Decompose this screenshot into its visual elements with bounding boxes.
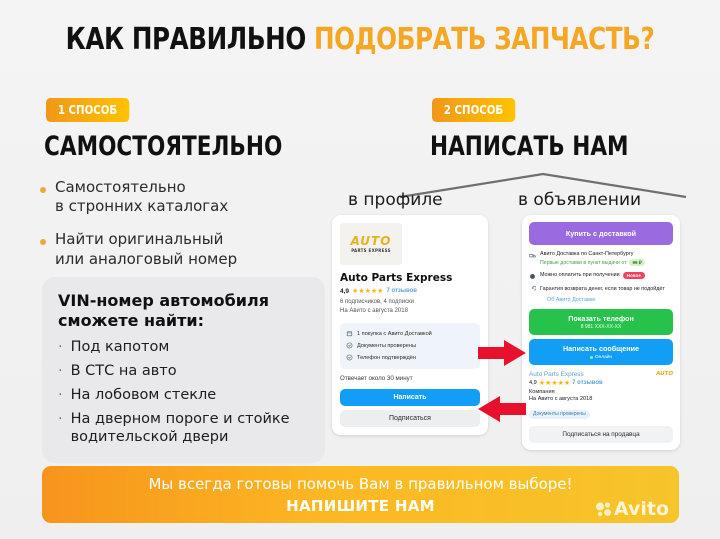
delivery-sub-text: Первые доставки в пункт выдачи от (540, 260, 626, 266)
list-item: ·На дверном пороге и стойке водительской… (58, 410, 309, 448)
cta-line1: Мы всегда готовы помочь Вам в правильном… (148, 475, 572, 493)
poster-root: КАК ПРАВИЛЬНО ПОДОБРАТЬ ЗАПЧАСТЬ? 1 СПОС… (0, 0, 720, 539)
reviews-link[interactable]: 7 отзывов (386, 288, 417, 294)
seller-since: На Авито с августа 2018 (529, 396, 673, 402)
red-arrow-icon-right (478, 340, 526, 366)
shop-name: Auto Parts Express (340, 272, 480, 284)
ad-card: Купить с доставкой Авито Доставка по Сан… (522, 215, 680, 450)
send-message-label: Написать сообщение (529, 344, 673, 353)
refund-arrow-icon (529, 286, 536, 293)
delivery-row-text: Можно оплатить при получении (540, 272, 620, 279)
list-item: ·Под капотом (58, 338, 309, 357)
cta-line2: НАПИШИТЕ НАМ (286, 497, 435, 515)
check-circle-icon (346, 354, 353, 361)
delivery-row-text: Авито Доставка по Санкт-Петербургу (540, 251, 645, 258)
red-arrow-icon-left (478, 396, 526, 422)
seller-type: Компания (529, 389, 673, 395)
star-icon: ★★★★★ (352, 287, 383, 295)
member-since: На Авито с августа 2018 (340, 307, 480, 316)
show-phone-label: Показать телефон (529, 314, 673, 323)
seller-name-link[interactable]: Auto Parts Express (529, 371, 673, 378)
show-phone-button[interactable]: Показать телефон 8 981 XXX-XX-XX (529, 309, 673, 335)
method1-heading: САМОСТОЯТЕЛЬНО (44, 131, 282, 162)
vin-item-text: На лобовом стекле (71, 386, 217, 405)
title-black-part: КАК ПРАВИЛЬНО (66, 22, 314, 57)
list-item: Гарантия возврата денег, если товар не п… (529, 286, 673, 294)
list-item: Документы проверены (346, 340, 474, 352)
bullet-dot-icon (40, 187, 46, 193)
followers-count: 6 подписчиков, 4 подписки (340, 298, 480, 307)
rating-row: 4,9 ★★★★★ 7 отзывов (340, 287, 480, 295)
truck-icon (529, 252, 536, 259)
seller-rating-value: 4,9 (529, 380, 537, 386)
online-dot-icon (590, 356, 593, 359)
list-item: ·На лобовом стекле (58, 386, 309, 405)
bullet-dot-icon (40, 239, 46, 245)
price-pill: 99 ₽ (629, 259, 644, 266)
list-item: Можно оплатить при получении Новое (529, 272, 673, 280)
title-orange-part: ПОДОБРАТЬ ЗАПЧАСТЬ? (314, 22, 654, 57)
buy-with-delivery-button[interactable]: Купить с доставкой (529, 222, 673, 245)
column-label-ad: в объявлении (518, 190, 641, 210)
list-item: 1 покупка с Авито Доставкой (346, 328, 474, 340)
check-circle-icon (346, 342, 353, 349)
seller-block: AUTO Auto Parts Express 4,9 ★★★★★ 7 отзы… (529, 371, 673, 444)
online-status: Онлайн (529, 355, 673, 360)
vin-card-heading: VIN-номер автомобиля сможете найти: (58, 291, 309, 331)
vin-item-text: На дверном пороге и стойке водительской … (71, 410, 290, 448)
profile-card: AUTO PARTS EXPRESS Auto Parts Express 4,… (332, 215, 488, 435)
list-item: Телефон подтверждён (346, 352, 474, 364)
list-item: Авито Доставка по Санкт-Петербургу Первы… (529, 251, 673, 266)
bullet-dot-icon: · (58, 338, 63, 357)
list-item: ·В СТС на авто (58, 362, 309, 381)
avito-wordmark: Avito (614, 498, 669, 520)
shop-logo-line1: AUTO (351, 235, 392, 247)
delivery-row-sub: Первые доставки в пункт выдачи от 99 ₽ (540, 259, 645, 266)
method2-heading: НАПИСАТЬ НАМ (430, 131, 629, 162)
avito-dots-icon (595, 501, 612, 518)
method1-badge: 1 СПОСОБ (46, 98, 129, 122)
about-delivery-link[interactable]: Об Авито Доставке (547, 297, 673, 303)
seller-rating-row: 4,9 ★★★★★ 7 отзывов (529, 379, 673, 387)
wallet-icon (529, 273, 536, 280)
delivery-box-icon (346, 330, 353, 337)
seller-logo: AUTO (656, 371, 673, 377)
vin-item-text: Под капотом (71, 338, 170, 357)
list-item: Найти оригинальный или аналоговый номер (40, 230, 330, 268)
online-label: Онлайн (595, 355, 612, 360)
method2-badge: 2 СПОСОБ (432, 98, 515, 122)
method1-bullet-list: Самостоятельно в стронних каталогах Найт… (40, 178, 330, 283)
delivery-row-text: Гарантия возврата денег, если товар не п… (540, 286, 665, 293)
list-item: Самостоятельно в стронних каталогах (40, 178, 330, 216)
feature-text: Телефон подтверждён (357, 355, 416, 361)
write-message-button[interactable]: Написать (340, 389, 480, 406)
profile-features: 1 покупка с Авито Доставкой Документы пр… (340, 323, 480, 369)
vin-info-card: VIN-номер автомобиля сможете найти: ·Под… (42, 277, 325, 463)
page-title: КАК ПРАВИЛЬНО ПОДОБРАТЬ ЗАПЧАСТЬ? (65, 22, 655, 57)
bullet-dot-icon: · (58, 362, 63, 381)
phone-masked: 8 981 XXX-XX-XX (529, 324, 673, 330)
subscribe-button[interactable]: Подписаться (340, 410, 480, 427)
bullet-text: Самостоятельно в стронних каталогах (55, 178, 228, 216)
feature-text: 1 покупка с Авито Доставкой (357, 331, 432, 337)
star-icon: ★★★★★ (539, 379, 570, 387)
bullet-text: Найти оригинальный или аналоговый номер (55, 230, 237, 268)
follow-seller-button[interactable]: Подписаться на продавца (529, 426, 673, 443)
feature-text: Документы проверены (357, 343, 416, 349)
avito-watermark: Avito (595, 498, 669, 520)
send-message-button[interactable]: Написать сообщение Онлайн (529, 339, 673, 365)
seller-reviews-link[interactable]: 7 отзывов (572, 380, 603, 386)
shop-logo-line2: PARTS EXPRESS (351, 248, 391, 253)
documents-verified-chip: Документы проверены (529, 410, 590, 419)
bullet-dot-icon: · (58, 386, 63, 405)
vin-item-text: В СТС на авто (71, 362, 177, 381)
rating-value: 4,9 (340, 288, 349, 295)
shop-logo: AUTO PARTS EXPRESS (340, 223, 402, 265)
new-badge: Новое (623, 272, 645, 279)
response-time: Отвечает около 30 минут (340, 375, 480, 382)
column-label-profile: в профиле (348, 190, 443, 210)
cta-banner: Мы всегда готовы помочь Вам в правильном… (42, 466, 679, 523)
bullet-dot-icon: · (58, 410, 63, 448)
